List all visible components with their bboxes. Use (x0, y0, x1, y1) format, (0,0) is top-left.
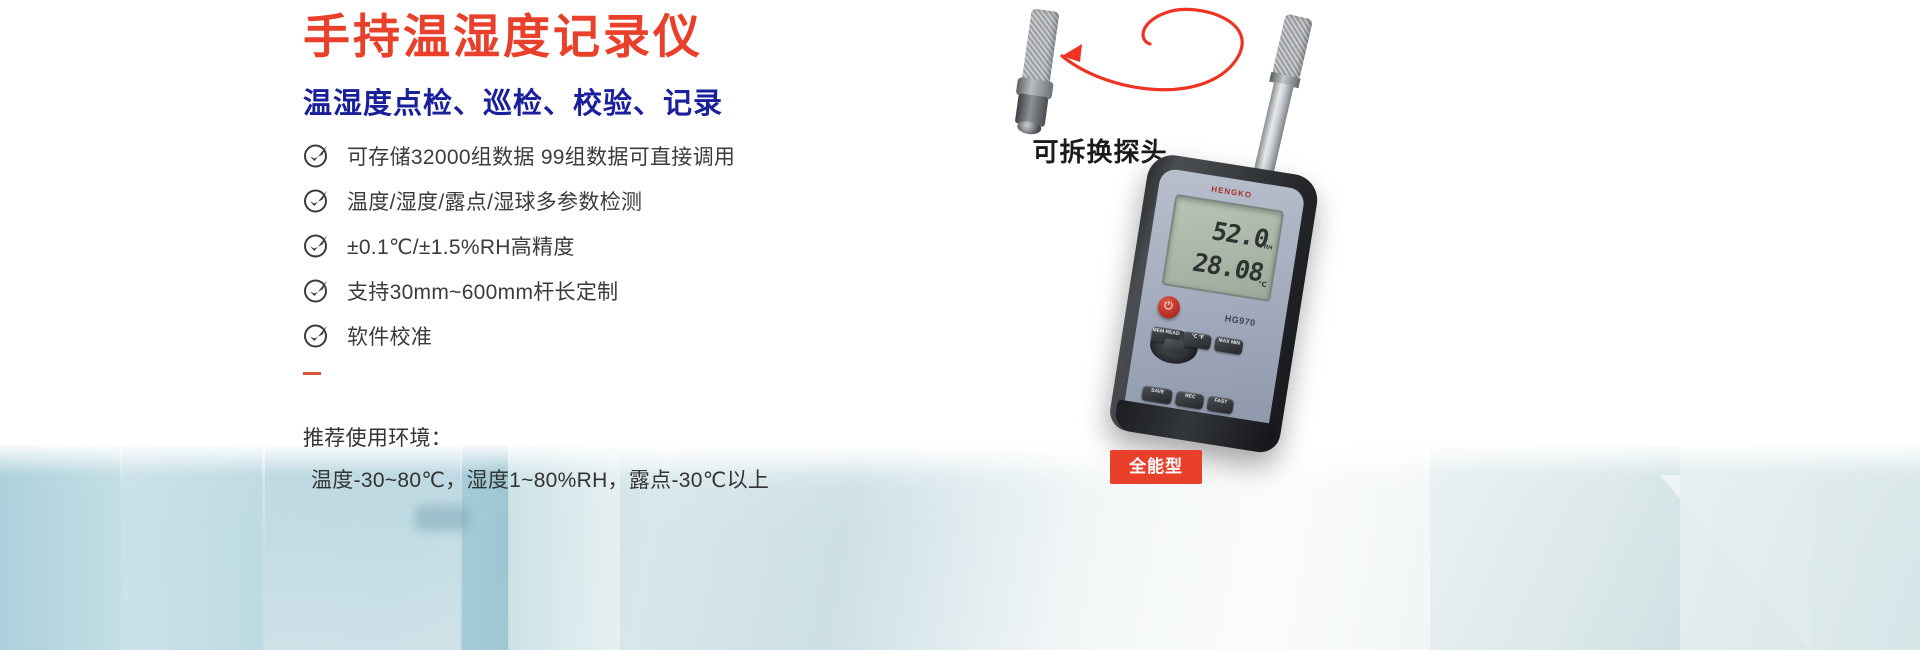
bg-glass-panel (122, 445, 262, 650)
bg-blurred-object (415, 505, 470, 531)
rod-mesh-filter (1272, 13, 1313, 80)
temperature-unit: ℃ (1258, 280, 1268, 289)
page-subtitle: 温湿度点检、巡检、校验、记录 (303, 80, 723, 122)
key-center-inner[interactable] (1163, 338, 1185, 355)
list-item-label: 温度/湿度/露点/湿球多参数检测 (347, 186, 642, 216)
list-item: ±0.1℃/±1.5%RH高精度 (303, 223, 903, 268)
divider-dash (303, 372, 321, 375)
circle-check-icon (303, 232, 330, 259)
lcd-display: 52.0 % RH 28.08 ℃ (1161, 194, 1284, 302)
key-save[interactable]: SAVE (1141, 385, 1173, 405)
key-rec[interactable]: REC (1175, 391, 1205, 410)
status-badge-label: 全能型 (1110, 450, 1202, 484)
list-item-label: 支持30mm~600mm杆长定制 (347, 276, 618, 306)
power-icon[interactable]: ⏻ (1156, 295, 1181, 320)
list-item: 温度/湿度/露点/湿球多参数检测 (303, 178, 903, 223)
key-fast[interactable]: FAST (1206, 396, 1234, 415)
circle-check-icon (303, 142, 330, 169)
product-banner: 手持温湿度记录仪 温湿度点检、巡检、校验、记录 可存储32000组数据 99组数… (0, 0, 1920, 650)
status-badge: 全能型 (1110, 450, 1202, 484)
handheld-meter: HENGKO 52.0 % RH 28.08 ℃ ⏻ HG970 MEM REA… (1107, 152, 1321, 455)
curved-arrow-icon (1000, 0, 1280, 110)
model-label: HG970 (1224, 313, 1256, 328)
temperature-reading: 28.08 (1190, 248, 1266, 287)
list-item: 软件校准 (303, 313, 903, 358)
circle-check-icon (303, 187, 330, 214)
circle-check-icon (303, 277, 330, 304)
list-item-label: 可存储32000组数据 99组数据可直接调用 (347, 141, 735, 171)
list-item-label: ±0.1℃/±1.5%RH高精度 (347, 231, 575, 261)
feature-list: 可存储32000组数据 99组数据可直接调用 温度/湿度/露点/湿球多参数检测 (303, 133, 903, 358)
circle-check-icon (303, 322, 330, 349)
product-image-area: 可拆换探头 HENGKO 52.0 % RH 28.08 ℃ ⏻ HG970 (940, 0, 1920, 650)
key-max-min[interactable]: MAX MIN (1214, 336, 1244, 355)
page-title: 手持温湿度记录仪 (303, 12, 703, 63)
list-item: 支持30mm~600mm杆长定制 (303, 268, 903, 313)
list-item-label: 软件校准 (347, 321, 432, 351)
text-column: 手持温湿度记录仪 温湿度点检、巡检、校验、记录 可存储32000组数据 99组数… (0, 0, 900, 445)
bg-glass-panel (0, 445, 120, 650)
list-item: 可存储32000组数据 99组数据可直接调用 (303, 133, 903, 178)
